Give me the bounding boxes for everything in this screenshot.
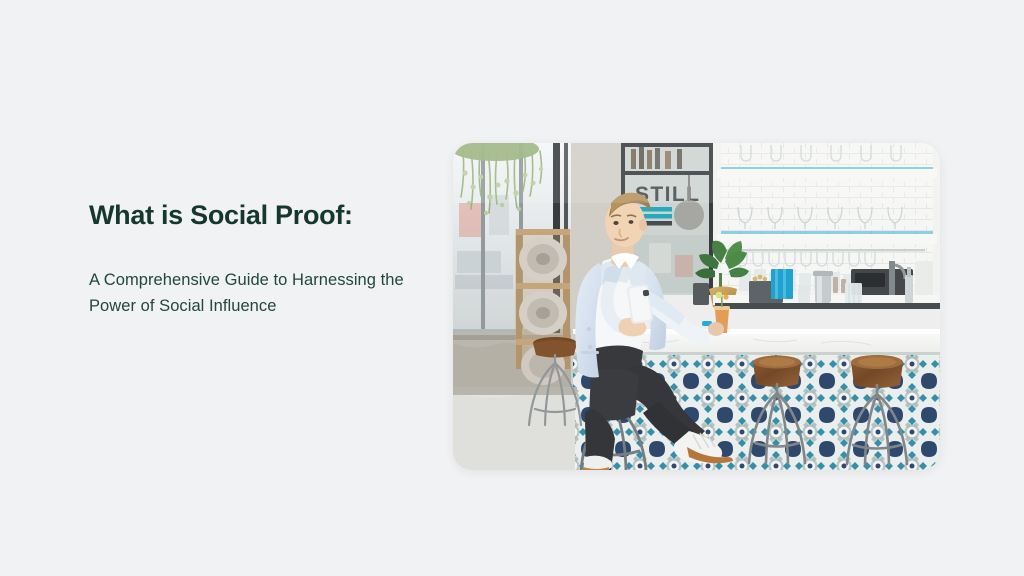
- text-column: What is Social Proof: A Comprehensive Gu…: [89, 200, 449, 319]
- hero-photo: STILL: [453, 143, 940, 470]
- page-title: What is Social Proof:: [89, 200, 449, 231]
- page-subtitle: A Comprehensive Guide to Harnessing the …: [89, 268, 434, 319]
- slide-canvas: What is Social Proof: A Comprehensive Gu…: [0, 0, 1024, 576]
- hero-photo-illustration: STILL: [453, 143, 940, 470]
